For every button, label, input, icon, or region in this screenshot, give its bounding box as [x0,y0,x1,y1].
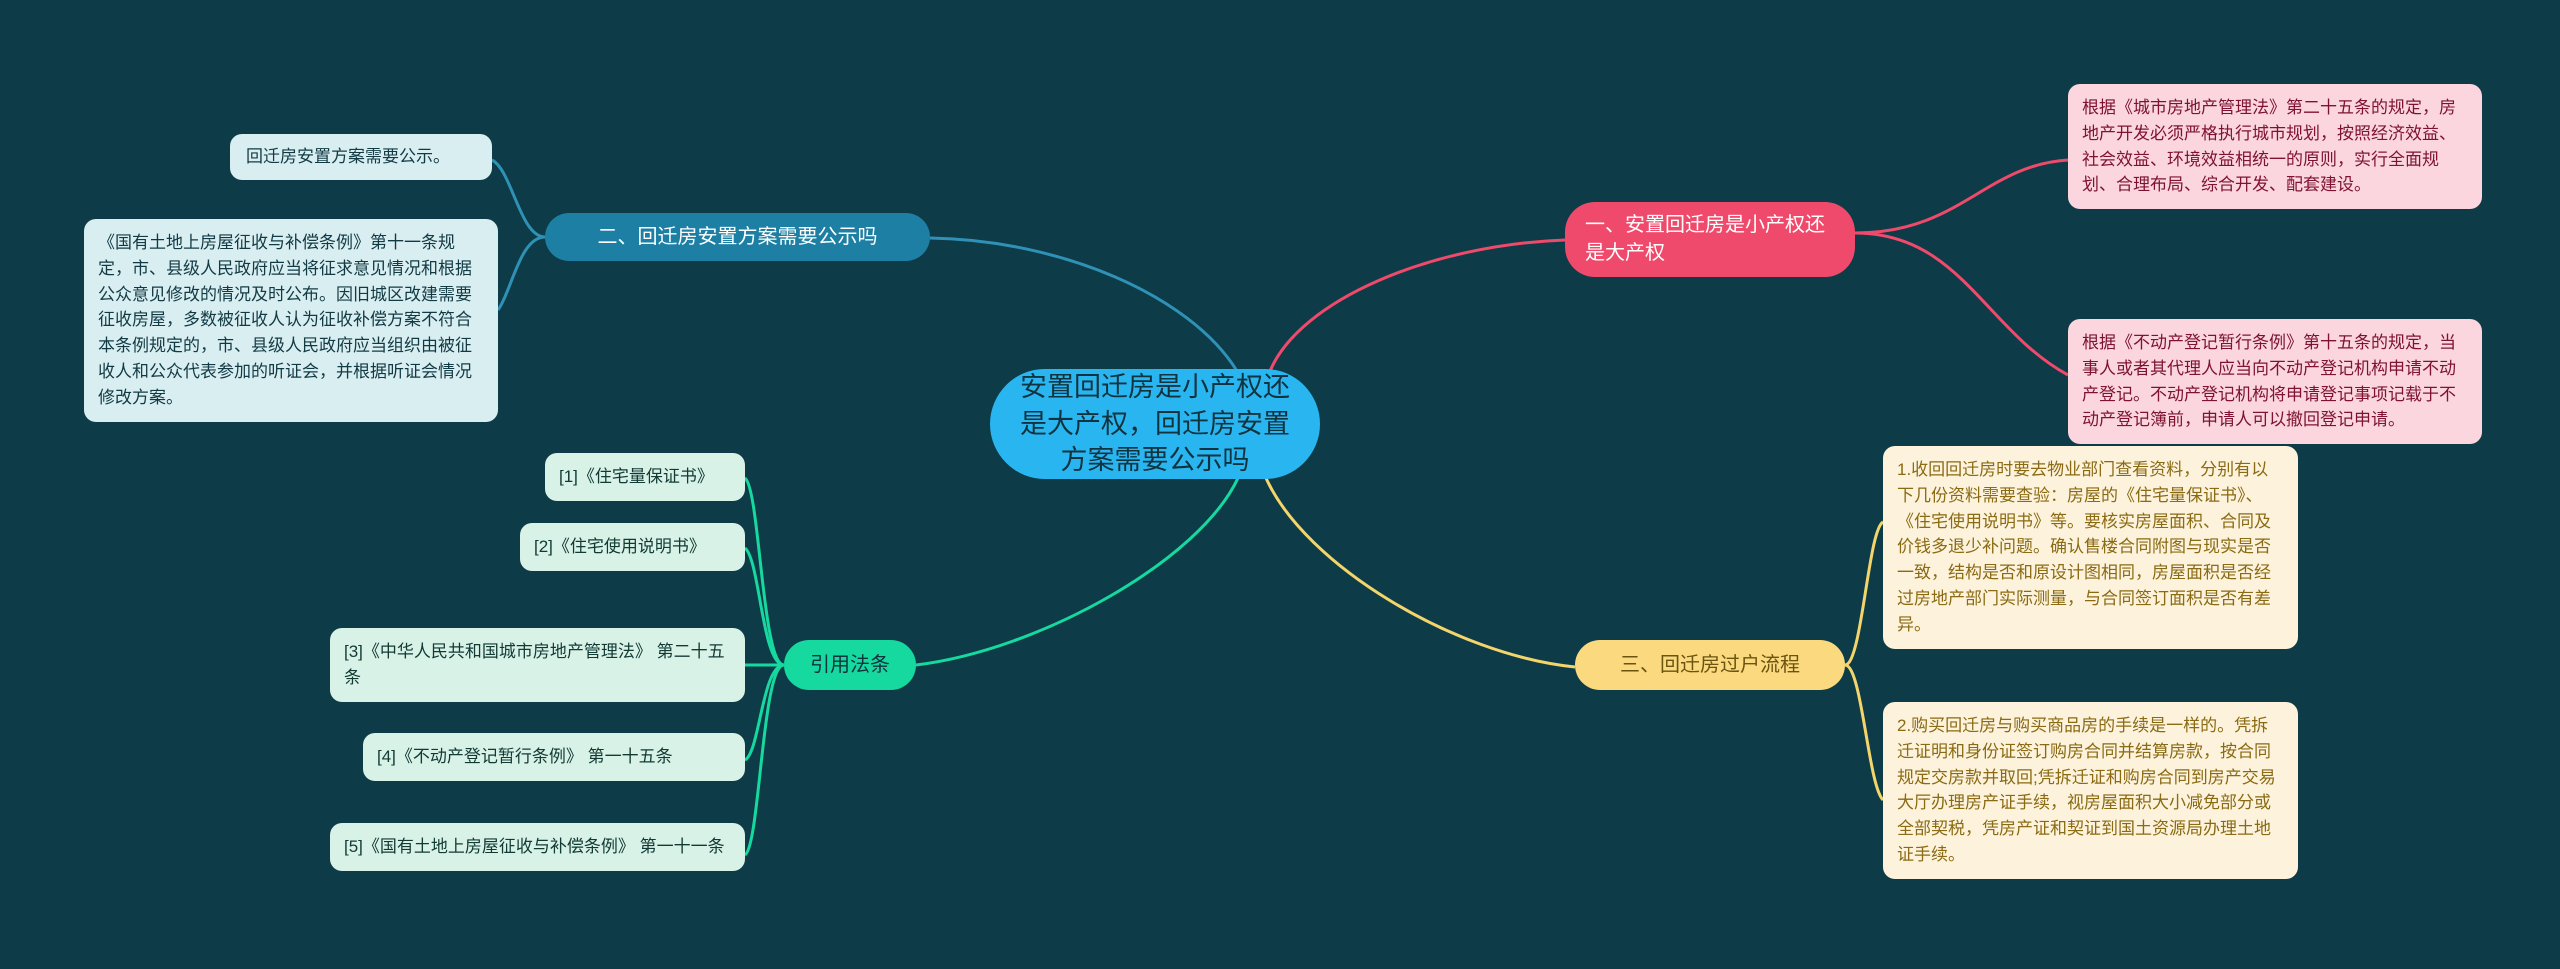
connector-root-to-branch-3 [916,478,1238,665]
leaf-card[interactable]: [5]《国有土地上房屋征收与补偿条例》 第一十一条 [330,823,745,871]
leaf-card[interactable]: 2.购买回迁房与购买商品房的手续是一样的。凭拆迁证明和身份证签订购房合同并结算房… [1883,702,2298,879]
leaf-card[interactable]: 根据《城市房地产管理法》第二十五条的规定，房地产开发必须严格执行城市规划，按照经… [2068,84,2482,209]
connector-root-to-branch-4 [1266,478,1575,667]
leaf-card[interactable]: [2]《住宅使用说明书》 [520,523,745,571]
leaf-card[interactable]: 《国有土地上房屋征收与补偿条例》第十一条规定，市、县级人民政府应当将征求意见情况… [84,219,498,422]
connector-branch-3-to-leaf-5 [745,665,784,855]
leaf-card[interactable]: [3]《中华人民共和国城市房地产管理法》 第二十五条 [330,628,745,702]
mindmap-canvas: 安置回迁房是小产权还是大产权，回迁房安置方案需要公示吗 一、安置回迁房是小产权还… [0,0,2560,969]
branch-node-3[interactable]: 引用法条 [784,640,916,690]
branch-node-1[interactable]: 一、安置回迁房是小产权还是大产权 [1565,202,1855,277]
leaf-card[interactable]: 回迁房安置方案需要公示。 [230,134,492,180]
root-node[interactable]: 安置回迁房是小产权还是大产权，回迁房安置方案需要公示吗 [990,369,1320,479]
leaf-card[interactable]: [4]《不动产登记暂行条例》 第一十五条 [363,733,745,781]
branch-node-4[interactable]: 三、回迁房过户流程 [1575,640,1845,690]
connector-branch-3-to-leaf-1 [745,478,784,665]
connector-branch-3-to-leaf-2 [745,548,784,665]
connector-branch-1-to-leaf-1 [1855,160,2068,233]
connector-root-to-branch-1 [1270,240,1565,371]
leaf-card[interactable]: 1.收回回迁房时要去物业部门查看资料，分别有以下几份资料需要查验：房屋的《住宅量… [1883,446,2298,649]
leaf-card[interactable]: 根据《不动产登记暂行条例》第十五条的规定，当事人或者其代理人应当向不动产登记机构… [2068,319,2482,444]
connector-branch-1-to-leaf-2 [1855,233,2068,375]
connector-branch-3-to-leaf-4 [745,665,784,760]
connector-branch-4-to-leaf-1 [1845,522,1883,665]
branch-node-2[interactable]: 二、回迁房安置方案需要公示吗 [545,213,930,261]
connector-root-to-branch-2 [930,238,1237,371]
connector-branch-2-to-leaf-2 [498,237,545,310]
leaf-card[interactable]: [1]《住宅量保证书》 [545,453,745,501]
connector-branch-2-to-leaf-1 [492,160,545,237]
connector-branch-4-to-leaf-2 [1845,665,1883,800]
